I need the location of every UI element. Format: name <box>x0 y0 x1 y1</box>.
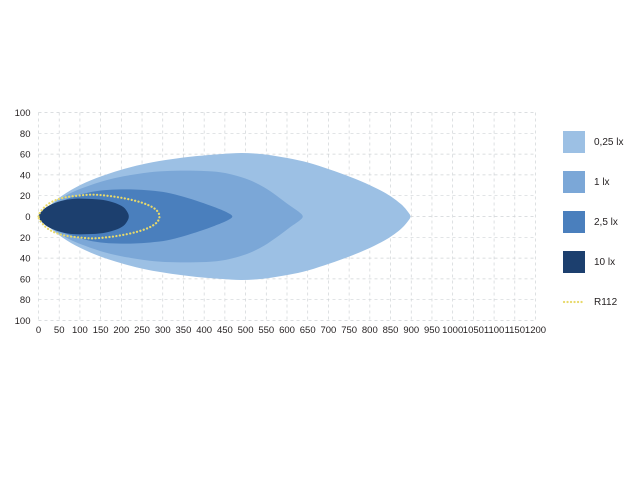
x-tick-label: 200 <box>113 325 129 336</box>
y-tick-label: 80 <box>20 129 31 140</box>
legend-swatch <box>563 131 585 153</box>
x-tick-label: 1050 <box>463 325 484 336</box>
x-tick-label: 900 <box>403 325 419 336</box>
x-tick-label: 600 <box>279 325 295 336</box>
x-tick-label: 250 <box>134 325 150 336</box>
x-tick-label: 1000 <box>442 325 463 336</box>
y-tick-label: 0 <box>25 212 30 223</box>
x-tick-label: 1200 <box>525 325 546 336</box>
x-tick-label: 350 <box>176 325 192 336</box>
x-tick-label: 800 <box>362 325 378 336</box>
x-tick-label: 500 <box>238 325 254 336</box>
x-tick-label: 950 <box>424 325 440 336</box>
x-tick-label: 300 <box>155 325 171 336</box>
legend-label: R112 <box>594 297 618 308</box>
x-tick-label: 0 <box>36 325 41 336</box>
x-tick-label: 1100 <box>484 325 504 336</box>
x-tick-label: 150 <box>93 325 109 336</box>
y-tick-label: 60 <box>20 150 31 161</box>
legend-swatch <box>563 251 585 273</box>
x-tick-label: 1150 <box>505 325 525 336</box>
legend-label: 10 lx <box>594 257 615 268</box>
y-tick-label: 60 <box>20 274 31 285</box>
x-tick-label: 450 <box>217 325 233 336</box>
x-tick-label: 700 <box>320 325 336 336</box>
y-tick-label: 40 <box>20 254 31 265</box>
x-tick-label: 50 <box>54 325 65 336</box>
legend-label: 1 lx <box>594 177 610 188</box>
y-tick-label: 100 <box>15 316 31 327</box>
legend-label: 2,5 lx <box>594 217 618 228</box>
legend-swatch <box>563 171 585 193</box>
x-tick-label: 550 <box>258 325 274 336</box>
legend-label: 0,25 lx <box>594 137 623 148</box>
x-tick-label: 650 <box>300 325 316 336</box>
x-tick-label: 100 <box>72 325 88 336</box>
x-tick-label: 400 <box>196 325 212 336</box>
x-tick-label: 750 <box>341 325 357 336</box>
chart-canvas: 0501001502002503003504004505005506006507… <box>0 0 640 480</box>
y-tick-label: 40 <box>20 170 31 181</box>
y-tick-label: 20 <box>20 191 31 202</box>
light-distribution-diagram: 0501001502002503003504004505005506006507… <box>0 0 640 480</box>
legend-swatch <box>563 211 585 233</box>
y-tick-label: 100 <box>15 108 31 119</box>
y-tick-label: 80 <box>20 295 31 306</box>
x-tick-label: 850 <box>383 325 399 336</box>
y-tick-label: 20 <box>20 233 31 244</box>
